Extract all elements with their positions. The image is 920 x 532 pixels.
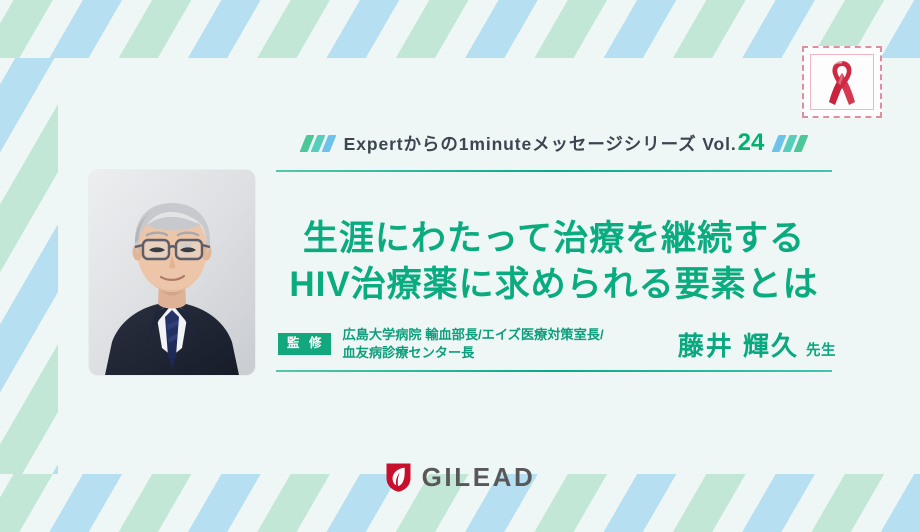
- supervisor-credit: 監 修 広島大学病院 輸血部長/エイズ医療対策室長/ 血友病診療センター長 藤井…: [278, 322, 838, 366]
- brand-logo: GILEAD: [0, 462, 920, 493]
- slash-ornament-right-icon: [775, 135, 805, 152]
- series-title-text: Expertからの1minuteメッセージシリーズ Vol.: [344, 131, 737, 156]
- affiliation: 広島大学病院 輸血部長/エイズ医療対策室長/ 血友病診療センター長: [342, 326, 677, 362]
- doctor-honorific: 先生: [806, 339, 836, 360]
- series-header: Expertからの1minuteメッセージシリーズ Vol.24: [276, 126, 832, 160]
- affiliation-line-2: 血友病診療センター長: [342, 344, 677, 362]
- divider-bottom: [276, 370, 832, 372]
- divider-top: [276, 170, 832, 172]
- stripe-band-top: [0, 0, 920, 58]
- series-volume-number: 24: [738, 129, 765, 157]
- doctor-name-text: 藤井 輝久: [678, 326, 799, 363]
- gilead-shield-icon: [385, 462, 412, 493]
- series-title: Expertからの1minuteメッセージシリーズ Vol.24: [344, 129, 765, 157]
- title-line-1: 生涯にわたって治療を継続する: [276, 216, 832, 262]
- stamp-inner-frame: [810, 54, 874, 110]
- avatar: [89, 170, 255, 375]
- page-title: 生涯にわたって治療を継続する HIV治療薬に求められる要素とは: [276, 216, 832, 307]
- slash-ornament-left-icon: [303, 135, 333, 152]
- status-badge: 監 修: [278, 333, 331, 355]
- affiliation-line-1: 広島大学病院 輸血部長/エイズ医療対策室長/: [342, 326, 677, 344]
- title-line-2: HIV治療薬に求められる要素とは: [276, 262, 832, 308]
- stripe-band-left: [0, 0, 58, 532]
- portrait-photo: [89, 170, 255, 375]
- doctor-name: 藤井 輝久 先生: [678, 326, 838, 363]
- aids-awareness-ribbon-icon: [822, 58, 862, 106]
- brand-logo-text: GILEAD: [422, 462, 536, 493]
- slide-canvas: Expertからの1minuteメッセージシリーズ Vol.24: [0, 0, 920, 532]
- postage-stamp: [802, 46, 882, 118]
